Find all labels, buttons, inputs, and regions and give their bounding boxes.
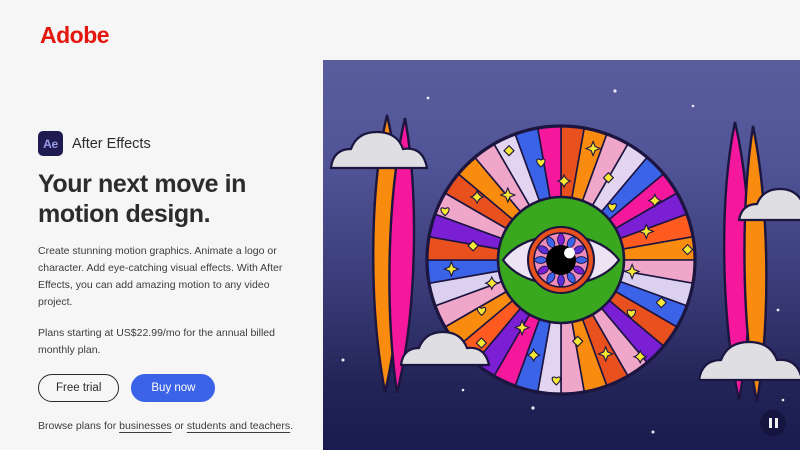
pause-bar-right <box>775 418 778 428</box>
page-title: Your next move in motion design. <box>38 169 313 229</box>
free-trial-button[interactable]: Free trial <box>38 374 119 402</box>
link-businesses[interactable]: businesses <box>119 420 172 432</box>
pause-button[interactable] <box>760 410 786 436</box>
link-students-teachers[interactable]: students and teachers <box>187 420 290 432</box>
cloud-right <box>699 342 800 380</box>
browse-plans-line: Browse plans for businesses or students … <box>38 420 316 432</box>
adobe-logo[interactable]: Adobe <box>40 22 109 49</box>
hero-description: Create stunning motion graphics. Animate… <box>38 243 306 311</box>
pause-bar-left <box>769 418 772 428</box>
motion-graphic-illustration <box>323 60 800 450</box>
buy-now-button[interactable]: Buy now <box>131 374 215 402</box>
browse-separator: or <box>172 420 187 432</box>
browse-prefix: Browse plans for <box>38 420 119 432</box>
product-name: After Effects <box>72 136 151 152</box>
after-effects-icon: Ae <box>38 131 63 156</box>
pupil-highlight <box>564 248 575 259</box>
hero-artwork-panel <box>323 60 800 450</box>
pricing-text: Plans starting at US$22.99/mo for the an… <box>38 325 310 359</box>
product-badge: Ae After Effects <box>38 131 316 156</box>
page-root: Adobe Ae After Effects Your next move in… <box>0 0 800 450</box>
browse-suffix: . <box>290 420 293 432</box>
cloud-top-left <box>331 132 427 168</box>
hero-content: Ae After Effects Your next move in motio… <box>38 131 316 432</box>
cta-button-group: Free trial Buy now <box>38 374 316 402</box>
